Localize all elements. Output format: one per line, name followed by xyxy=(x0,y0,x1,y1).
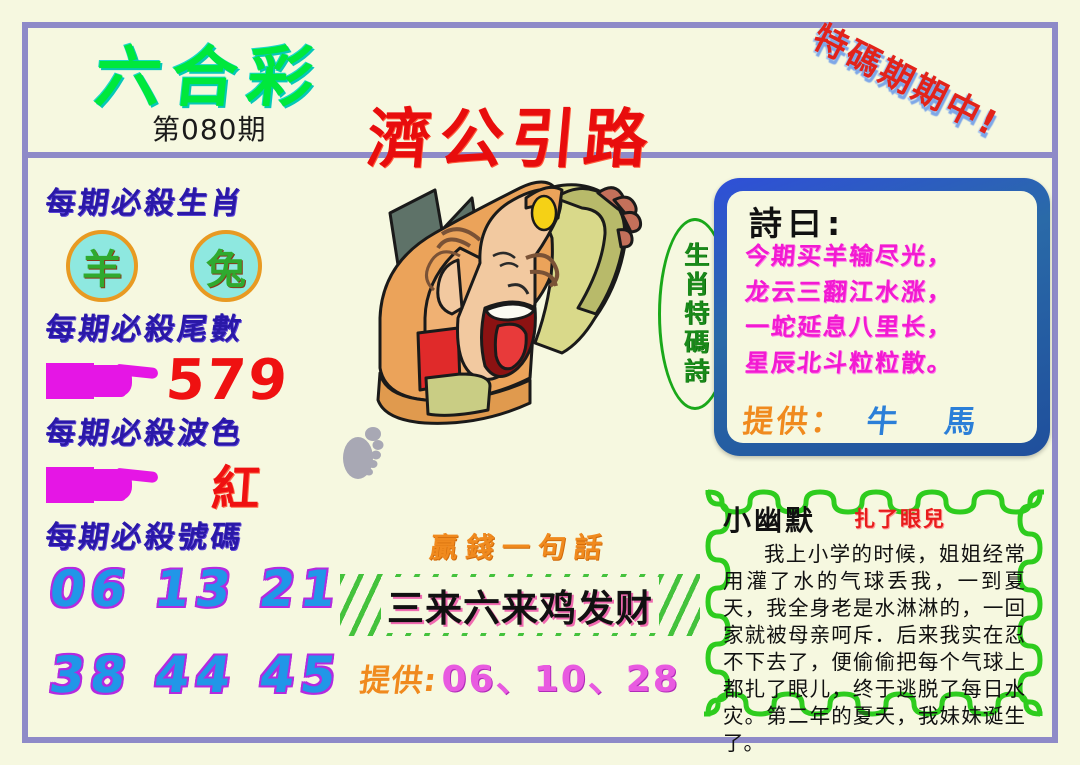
zodiac-label-goat: 羊 xyxy=(82,237,122,295)
pointing-hand-icon xyxy=(46,357,156,403)
tail-number-heading: 每期必殺尾數 xyxy=(43,304,349,348)
lucky-phrase-block: 贏錢一句話 三来六来鸡发财 提供: 06、10、28 xyxy=(340,526,700,702)
joke-header: 小幽默 扎了眼兒 xyxy=(723,499,1025,539)
page-title: 濟公引路 xyxy=(364,88,660,180)
poem-line-3: 一蛇延息八里长， xyxy=(743,310,1028,346)
poem-provider-label: 提供： xyxy=(741,396,848,441)
kill-numbers-row-2: 38 44 45 xyxy=(46,646,350,704)
predictions-column: 每期必殺生肖 羊 兔 每期必殺尾數 579 每期必殺波色 紅 每期必殺號碼 06… xyxy=(46,178,346,704)
footprint-icon xyxy=(334,420,394,482)
pointing-hand-icon-2 xyxy=(46,461,156,507)
joke-content: 小幽默 扎了眼兒 我上小学的时候，姐姐经常用灌了水的气球丢我，一到夏天，我全身老… xyxy=(709,493,1039,761)
lottery-poster: 六合彩 第080期 濟公引路 特碼期期中! 每期必殺生肖 羊 兔 每期必殺尾數 … xyxy=(0,0,1080,765)
lucky-phrase-text: 三来六来鸡发财 xyxy=(387,587,653,630)
zodiac-heading: 每期必殺生肖 xyxy=(43,178,349,222)
supply-label: 提供: xyxy=(357,655,440,700)
poem-lines: 今期买羊输尽光， 龙云三翻江水涨， 一蛇延息八里长， 星辰北斗粒粒散。 xyxy=(745,239,1027,381)
number-heading: 每期必殺號碼 xyxy=(43,512,349,556)
zodiac-circle-goat: 羊 xyxy=(66,230,138,302)
oval-label-text: 生肖特碼詩 xyxy=(683,242,708,387)
color-heading: 每期必殺波色 xyxy=(43,408,349,452)
zodiac-circle-rabbit: 兔 xyxy=(190,230,262,302)
color-value-row: 紅 xyxy=(46,458,346,510)
joke-title: 小幽默 xyxy=(723,499,816,539)
supply-row: 提供: 06、10、28 xyxy=(340,650,700,702)
poem-box-inner: 詩曰: 今期买羊输尽光， 龙云三翻江水涨， 一蛇延息八里长， 星辰北斗粒粒散。 … xyxy=(727,191,1037,443)
poem-title: 詩曰: xyxy=(749,197,846,245)
color-value: 紅 xyxy=(210,449,265,519)
tail-number-value: 579 xyxy=(164,348,291,413)
tail-number-row: 579 xyxy=(46,354,346,406)
poem-line-1: 今期买羊输尽光， xyxy=(743,239,1028,275)
joke-box: 小幽默 扎了眼兒 我上小学的时候，姐姐经常用灌了水的气球丢我，一到夏天，我全身老… xyxy=(700,484,1048,722)
kill-numbers-row-1: 06 13 21 xyxy=(46,560,350,618)
win-money-line: 贏錢一句話 xyxy=(338,526,703,566)
lucky-phrase-banner: 三来六来鸡发财 xyxy=(340,574,700,636)
zodiac-circle-row: 羊 兔 xyxy=(66,230,346,302)
poem-box: 詩曰: 今期买羊输尽光， 龙云三翻江水涨， 一蛇延息八里长， 星辰北斗粒粒散。 … xyxy=(714,178,1050,456)
poem-line-4: 星辰北斗粒粒散。 xyxy=(743,346,1028,382)
diagonal-slogan: 特碼期期中! xyxy=(806,10,1010,146)
brand-title: 六合彩 xyxy=(91,24,329,120)
poem-line-2: 龙云三翻江水涨， xyxy=(743,275,1028,311)
poem-provider-value: 牛 馬 xyxy=(865,396,997,441)
zodiac-label-rabbit: 兔 xyxy=(206,237,246,295)
poem-provider: 提供： 牛 馬 xyxy=(743,396,994,441)
joke-body-text: 我上小学的时候，姐姐经常用灌了水的气球丢我，一到夏天，我全身老是水淋淋的，一回家… xyxy=(723,541,1025,757)
supply-value: 06、10、28 xyxy=(442,650,680,702)
joke-subtitle: 扎了眼兒 xyxy=(854,503,946,533)
issue-number: 第080期 xyxy=(152,108,266,148)
